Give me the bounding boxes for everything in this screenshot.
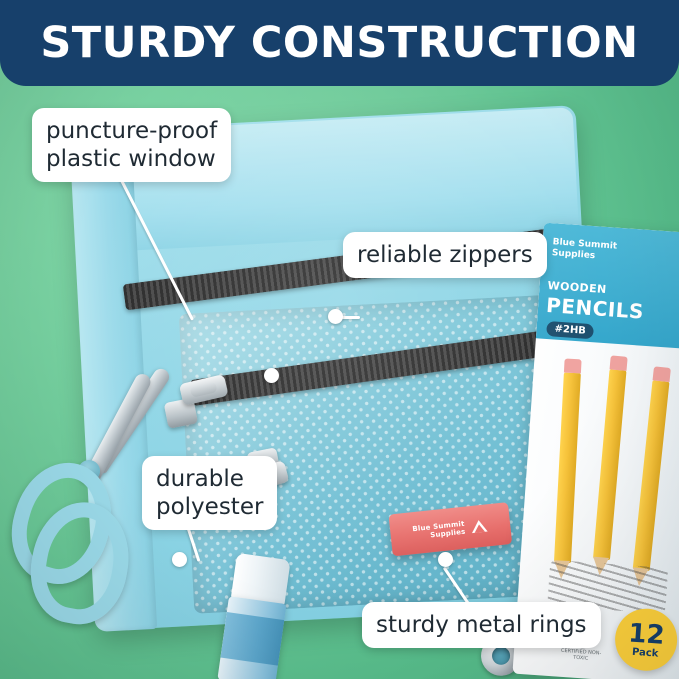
glue-stick-body	[217, 596, 286, 679]
leader-dot-durable	[172, 552, 187, 567]
eraser-brand-text: Blue Summit Supplies	[412, 519, 466, 541]
pack-count-badge: 12 Pack	[613, 607, 679, 673]
leader-dot-zippers	[328, 309, 343, 324]
callout-puncture-proof-plastic-window: puncture-proof plastic window	[32, 108, 231, 182]
product-feature-image: Blue Summit Supplies Blue Summit S	[0, 0, 679, 679]
pencil-hardness-badge: #2HB	[546, 321, 594, 339]
leader-dot-puncture	[264, 368, 279, 383]
callout-durable-polyester: durable polyester	[142, 456, 277, 530]
pencil-box-brand: Blue Summit Supplies	[551, 237, 617, 263]
blue-summit-logo-icon	[469, 518, 488, 534]
pack-count-number: 12	[628, 620, 666, 648]
glue-stick-label	[220, 612, 284, 666]
leader-dot-rings	[438, 552, 453, 567]
pack-count-label: Pack	[632, 646, 659, 659]
pencil-illustrations	[538, 350, 679, 570]
page-title: STURDY CONSTRUCTION	[40, 18, 638, 68]
pencil-1	[554, 372, 581, 563]
pencil-2	[593, 369, 626, 560]
header-banner: STURDY CONSTRUCTION	[0, 0, 679, 86]
ap-seal-caption: CERTIFIED NON-TOXIC	[560, 648, 603, 663]
callout-reliable-zippers: reliable zippers	[343, 232, 547, 278]
callout-sturdy-metal-rings: sturdy metal rings	[362, 602, 601, 648]
pencil-3	[633, 380, 670, 571]
